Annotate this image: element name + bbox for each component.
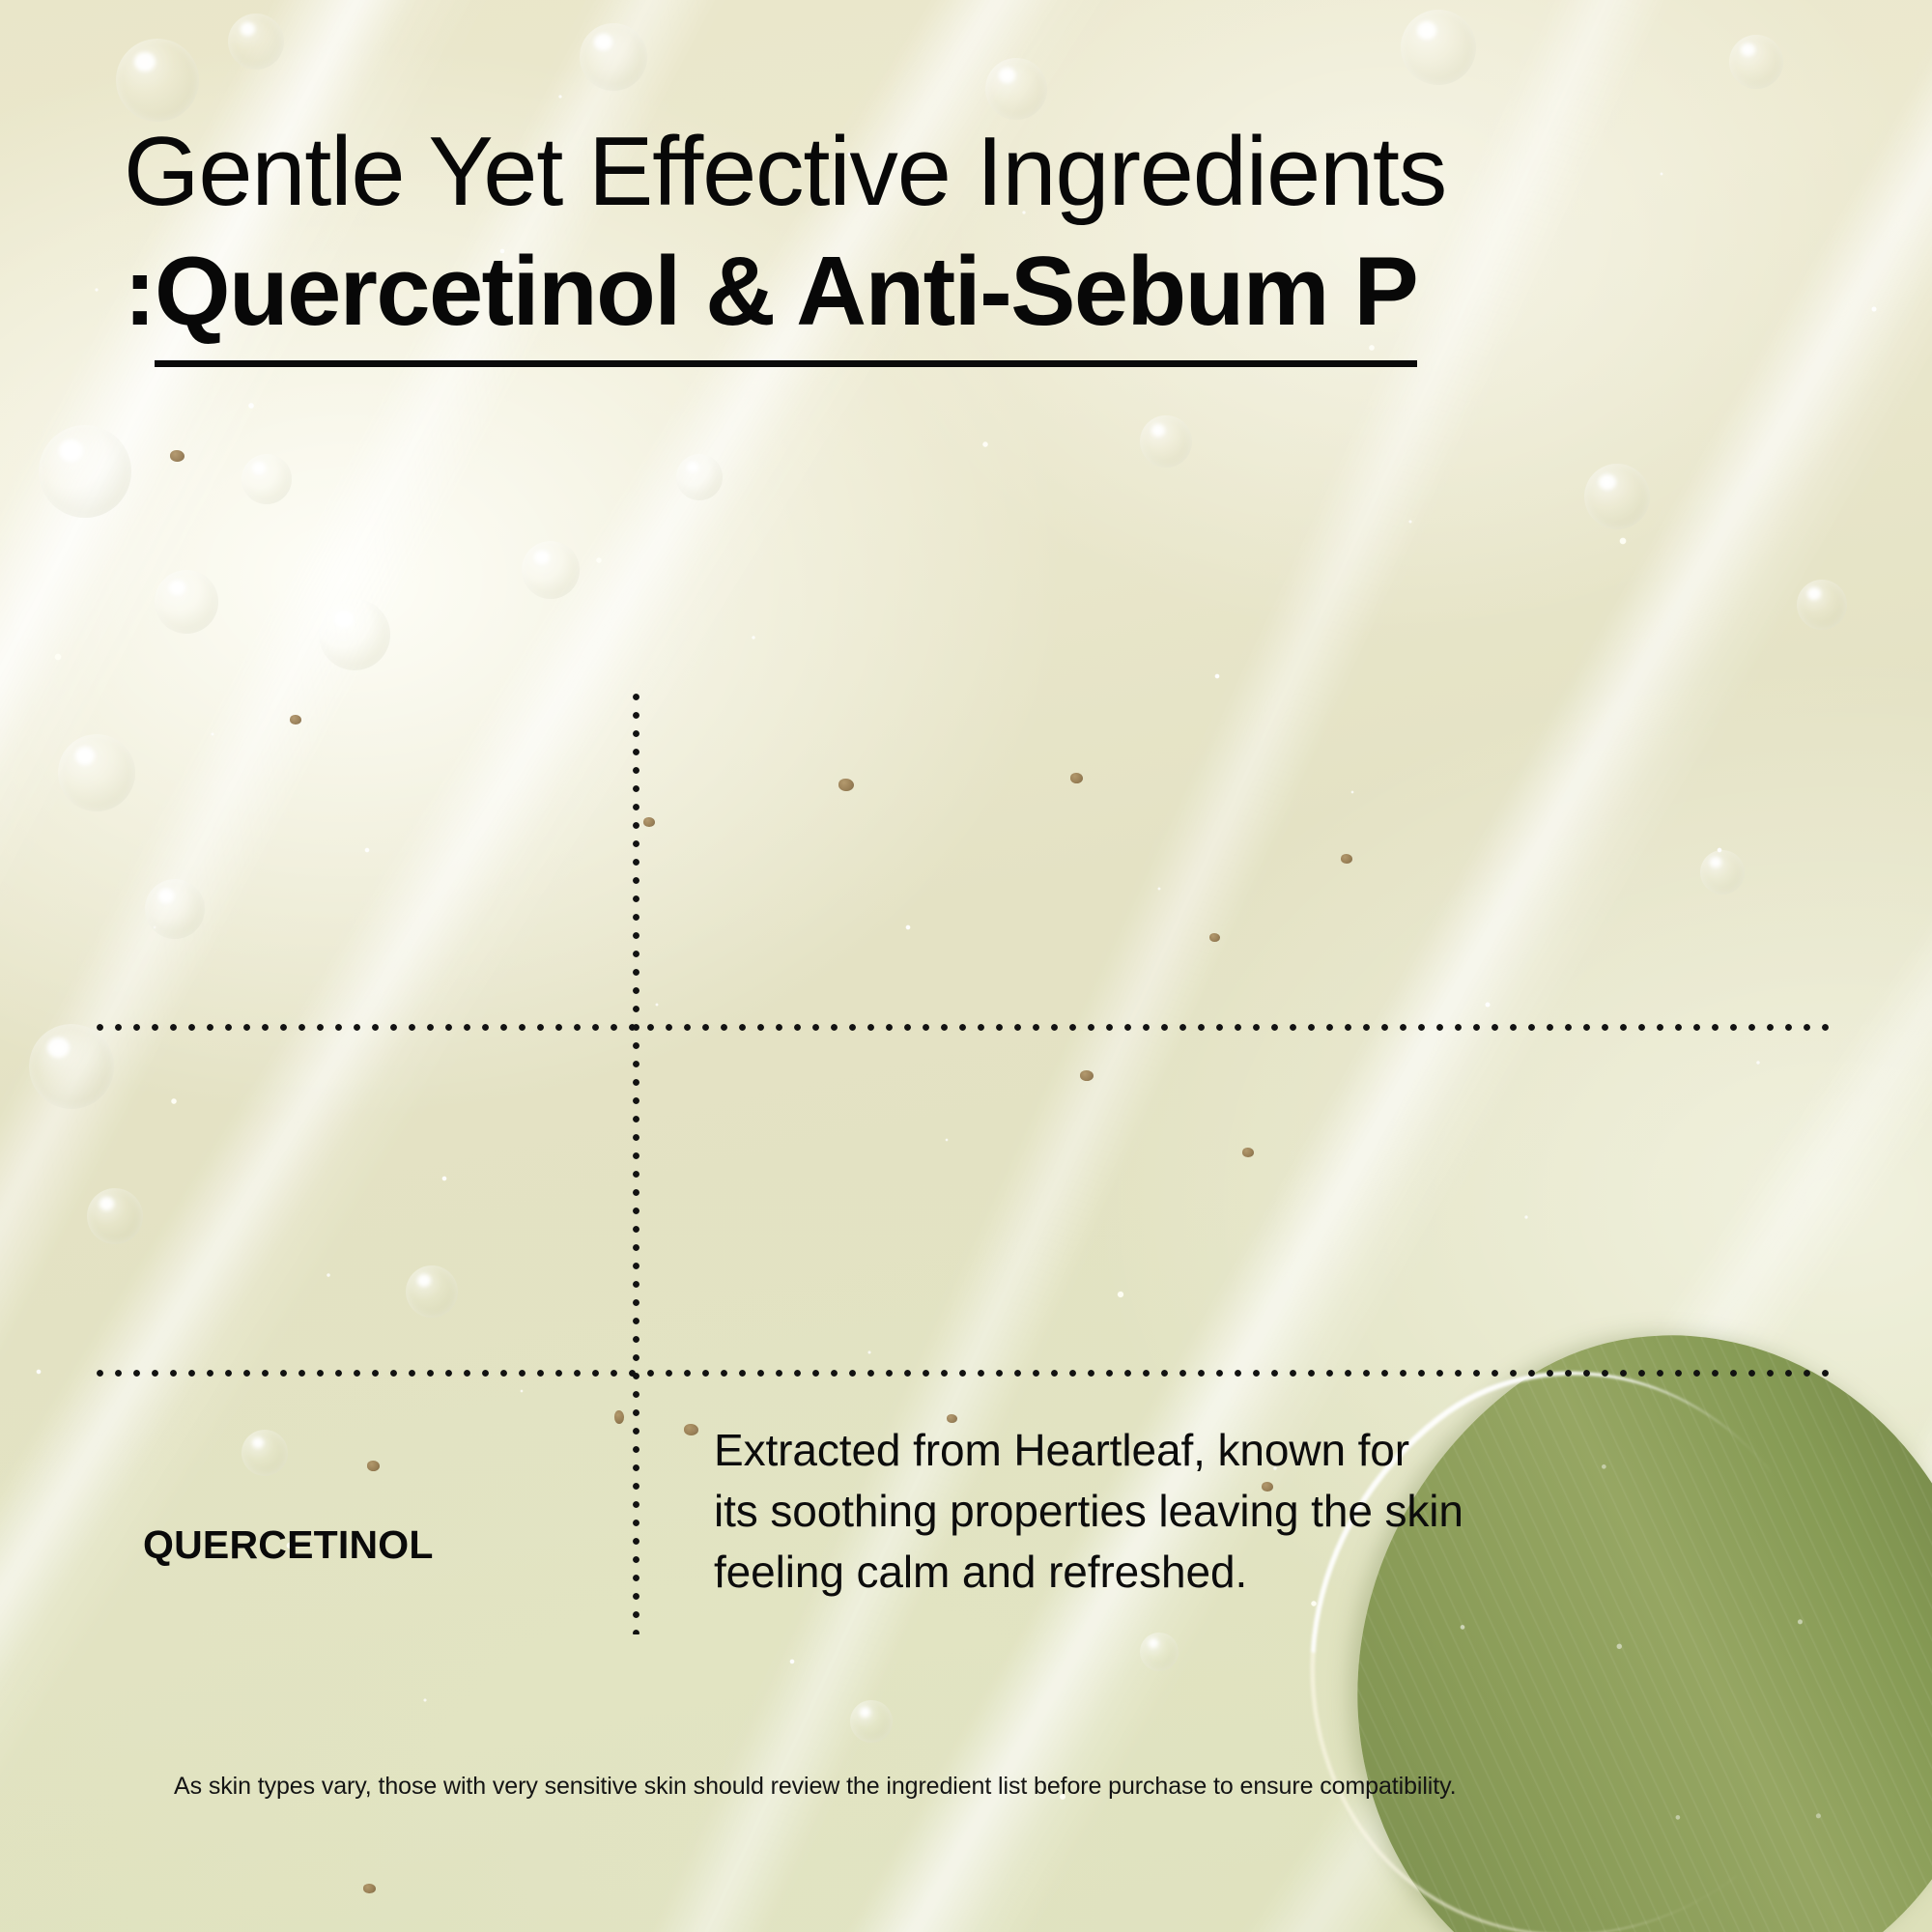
headline-colon: : xyxy=(124,232,155,352)
table-horizontal-divider-1 xyxy=(91,1024,1839,1031)
disclaimer-footnote: As skin types vary, those with very sens… xyxy=(174,1770,1835,1803)
headline-line-1: Gentle Yet Effective Ingredients xyxy=(124,112,1862,232)
table-vertical-divider xyxy=(633,688,639,1634)
ingredient-description: Extracted from Heartleaf, known for its … xyxy=(714,1420,1854,1603)
headline-line-2: : Quercetinol & Anti-Sebum P xyxy=(124,232,1862,367)
description-line: feeling calm and refreshed. xyxy=(714,1542,1854,1603)
description-line: its soothing properties leaving the skin xyxy=(714,1481,1854,1542)
headline-underlined-text: Quercetinol & Anti-Sebum P xyxy=(155,232,1417,367)
description-line: Extracted from Heartleaf, known for xyxy=(714,1420,1854,1481)
ingredient-name: QUERCETINOL xyxy=(143,1522,434,1568)
table-horizontal-divider-2 xyxy=(91,1370,1839,1377)
page-title: Gentle Yet Effective Ingredients : Querc… xyxy=(124,112,1862,367)
product-ingredient-infographic: Gentle Yet Effective Ingredients : Querc… xyxy=(0,0,1932,1932)
